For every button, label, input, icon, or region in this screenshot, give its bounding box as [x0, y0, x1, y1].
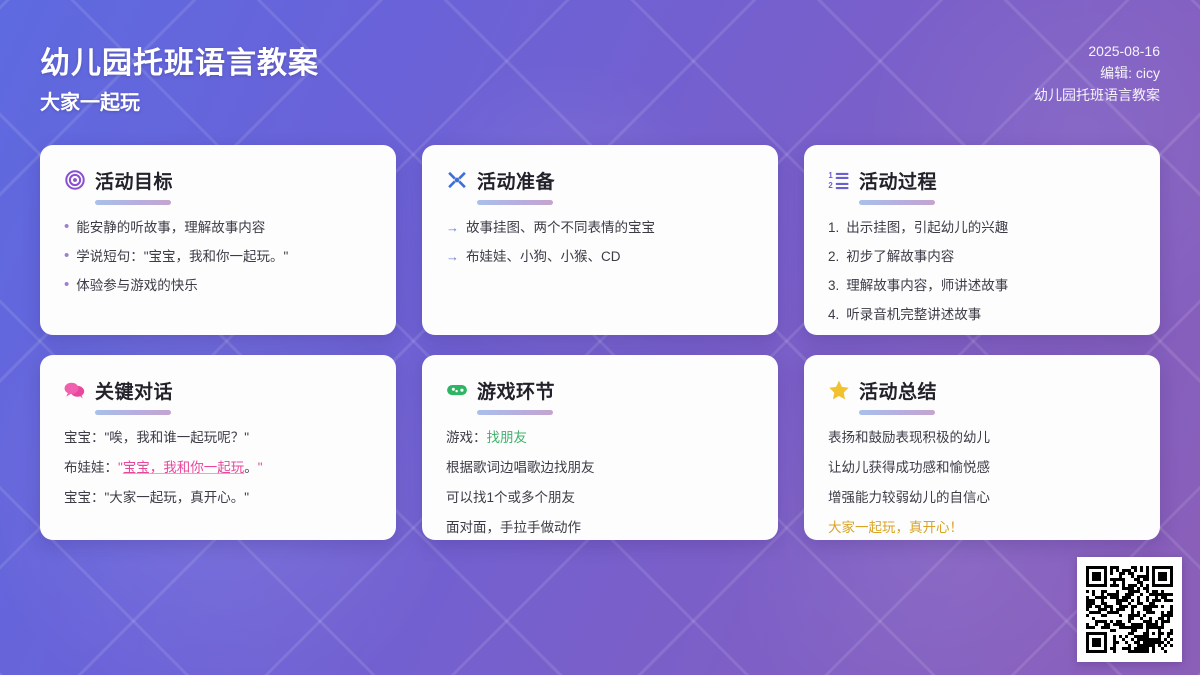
text-segment: 表扬和鼓励表现积极的幼儿 [828, 430, 990, 445]
card-title: 游戏环节 [477, 377, 555, 404]
text-segment: " [258, 460, 263, 475]
meta-editor: 编辑: cicy [1034, 62, 1160, 84]
title-underline [95, 200, 171, 205]
bullet-dot-icon: • [64, 276, 69, 294]
text-segment: 增强能力较弱幼儿的自信心 [828, 490, 990, 505]
card-header: 关键对话 [64, 377, 372, 403]
card-body: 表扬和鼓励表现积极的幼儿让幼儿获得成功感和愉悦感增强能力较弱幼儿的自信心大家一起… [828, 428, 1136, 537]
list-item-label: 能安静的听故事，理解故事内容 [76, 218, 372, 237]
title-underline [95, 410, 171, 415]
list-item: 3.理解故事内容，师讲述故事 [828, 276, 1136, 295]
card-body: •能安静的听故事，理解故事内容•学说短句："宝宝，我和你一起玩。"•体验参与游戏… [64, 218, 372, 295]
list-item-label: 听录音机完整讲述故事 [846, 305, 1136, 324]
gamepad-icon [446, 379, 468, 401]
card-title: 关键对话 [95, 377, 173, 404]
text-line: 宝宝："大家一起玩，真开心。" [64, 488, 372, 507]
text-segment: 面对面，手拉手做动作 [446, 520, 581, 535]
card-activity-preparation: 活动准备→故事挂图、两个不同表情的宝宝→布娃娃、小狗、小猴、CD [422, 145, 778, 335]
card-title: 活动过程 [859, 167, 937, 194]
page-subtitle: 大家一起玩 [40, 86, 140, 115]
list-number: 4. [828, 305, 839, 324]
card-body: 游戏：找朋友根据歌词边唱歌边找朋友可以找1个或多个朋友面对面，手拉手做动作 [446, 428, 754, 537]
bullet-dot-icon: • [64, 247, 69, 265]
text-segment: 可以找1个或多个朋友 [446, 490, 575, 505]
text-line: 布娃娃："宝宝，我和你一起玩。" [64, 458, 372, 477]
star-icon [828, 379, 850, 401]
text-line: 大家一起玩，真开心！ [828, 518, 1136, 537]
list-item-label: 体验参与游戏的快乐 [76, 276, 372, 295]
arrow-right-icon: → [446, 247, 459, 266]
card-activity-summary: 活动总结表扬和鼓励表现积极的幼儿让幼儿获得成功感和愉悦感增强能力较弱幼儿的自信心… [804, 355, 1160, 540]
card-title: 活动准备 [477, 167, 555, 194]
list-item-label: 学说短句："宝宝，我和你一起玩。" [76, 247, 372, 266]
title-underline [477, 410, 553, 415]
arrow-right-icon: → [446, 218, 459, 237]
list-item-label: 理解故事内容，师讲述故事 [846, 276, 1136, 295]
text-segment: 布娃娃： [64, 460, 118, 475]
list-item: •体验参与游戏的快乐 [64, 276, 372, 295]
text-line: 表扬和鼓励表现积极的幼儿 [828, 428, 1136, 447]
list-number: 1. [828, 218, 839, 237]
text-segment: 让幼儿获得成功感和愉悦感 [828, 460, 990, 475]
text-segment: 游戏： [446, 430, 487, 445]
target-icon [64, 169, 86, 191]
numbered-list-icon: 12 [828, 169, 850, 191]
list-item: 1.出示挂图，引起幼儿的兴趣 [828, 218, 1136, 237]
text-line: 增强能力较弱幼儿的自信心 [828, 488, 1136, 507]
card-header: 游戏环节 [446, 377, 754, 403]
list-item: 4.听录音机完整讲述故事 [828, 305, 1136, 324]
page-title: 幼儿园托班语言教案 [40, 38, 319, 82]
text-segment: 大家一起玩，真开心！ [828, 520, 963, 535]
text-line: 游戏：找朋友 [446, 428, 754, 447]
card-activity-process: 12活动过程1.出示挂图，引起幼儿的兴趣2.初步了解故事内容3.理解故事内容，师… [804, 145, 1160, 335]
bullet-dot-icon: • [64, 218, 69, 236]
card-header: 活动总结 [828, 377, 1136, 403]
meta-date: 2025-08-16 [1034, 40, 1160, 62]
card-body: →故事挂图、两个不同表情的宝宝→布娃娃、小狗、小猴、CD [446, 218, 754, 266]
card-key-dialogue: 关键对话宝宝："唉，我和谁一起玩呢？"布娃娃："宝宝，我和你一起玩。"宝宝："大… [40, 355, 396, 540]
poster-canvas: 幼儿园托班语言教案 大家一起玩 2025-08-16 编辑: cicy 幼儿园托… [0, 0, 1200, 675]
list-number: 2. [828, 247, 839, 266]
text-line: 让幼儿获得成功感和愉悦感 [828, 458, 1136, 477]
text-segment: 找朋友 [487, 430, 528, 445]
title-underline [477, 200, 553, 205]
text-line: 根据歌词边唱歌边找朋友 [446, 458, 754, 477]
text-segment: 宝宝："唉，我和谁一起玩呢？" [64, 430, 249, 445]
list-item-label: 初步了解故事内容 [846, 247, 1136, 266]
card-title: 活动目标 [95, 167, 173, 194]
list-item: →布娃娃、小狗、小猴、CD [446, 247, 754, 266]
card-activity-goal: 活动目标•能安静的听故事，理解故事内容•学说短句："宝宝，我和你一起玩。"•体验… [40, 145, 396, 335]
card-body: 宝宝："唉，我和谁一起玩呢？"布娃娃："宝宝，我和你一起玩。"宝宝："大家一起玩… [64, 428, 372, 507]
header: 幼儿园托班语言教案 大家一起玩 2025-08-16 编辑: cicy 幼儿园托… [0, 0, 1200, 128]
text-line: 宝宝："唉，我和谁一起玩呢？" [64, 428, 372, 447]
tools-icon [446, 169, 468, 191]
list-item-label: 故事挂图、两个不同表情的宝宝 [466, 218, 754, 237]
svg-text:2: 2 [828, 181, 833, 190]
list-item: →故事挂图、两个不同表情的宝宝 [446, 218, 754, 237]
title-underline [859, 410, 935, 415]
list-item: 2.初步了解故事内容 [828, 247, 1136, 266]
text-segment: 宝宝："大家一起玩，真开心。" [64, 490, 249, 505]
list-item-label: 布娃娃、小狗、小猴、CD [466, 247, 754, 266]
list-number: 3. [828, 276, 839, 295]
text-line: 可以找1个或多个朋友 [446, 488, 754, 507]
text-line: 面对面，手拉手做动作 [446, 518, 754, 537]
qr-code[interactable] [1077, 557, 1182, 662]
title-underline [859, 200, 935, 205]
header-meta: 2025-08-16 编辑: cicy 幼儿园托班语言教案 [1034, 40, 1160, 106]
card-header: 12活动过程 [828, 167, 1136, 193]
card-header: 活动目标 [64, 167, 372, 193]
list-item: •学说短句："宝宝，我和你一起玩。" [64, 247, 372, 266]
text-segment: 宝宝，我和你一起玩 [123, 460, 245, 475]
list-item-label: 出示挂图，引起幼儿的兴趣 [846, 218, 1136, 237]
svg-text:1: 1 [828, 171, 833, 180]
card-game-session: 游戏环节游戏：找朋友根据歌词边唱歌边找朋友可以找1个或多个朋友面对面，手拉手做动… [422, 355, 778, 540]
list-item: •能安静的听故事，理解故事内容 [64, 218, 372, 237]
meta-source: 幼儿园托班语言教案 [1034, 84, 1160, 106]
card-body: 1.出示挂图，引起幼儿的兴趣2.初步了解故事内容3.理解故事内容，师讲述故事4.… [828, 218, 1136, 324]
card-header: 活动准备 [446, 167, 754, 193]
text-segment: 。 [244, 460, 258, 475]
text-segment: 根据歌词边唱歌边找朋友 [446, 460, 595, 475]
chat-bubbles-icon [64, 379, 86, 401]
card-grid: 活动目标•能安静的听故事，理解故事内容•学说短句："宝宝，我和你一起玩。"•体验… [40, 145, 1160, 540]
card-title: 活动总结 [859, 377, 937, 404]
